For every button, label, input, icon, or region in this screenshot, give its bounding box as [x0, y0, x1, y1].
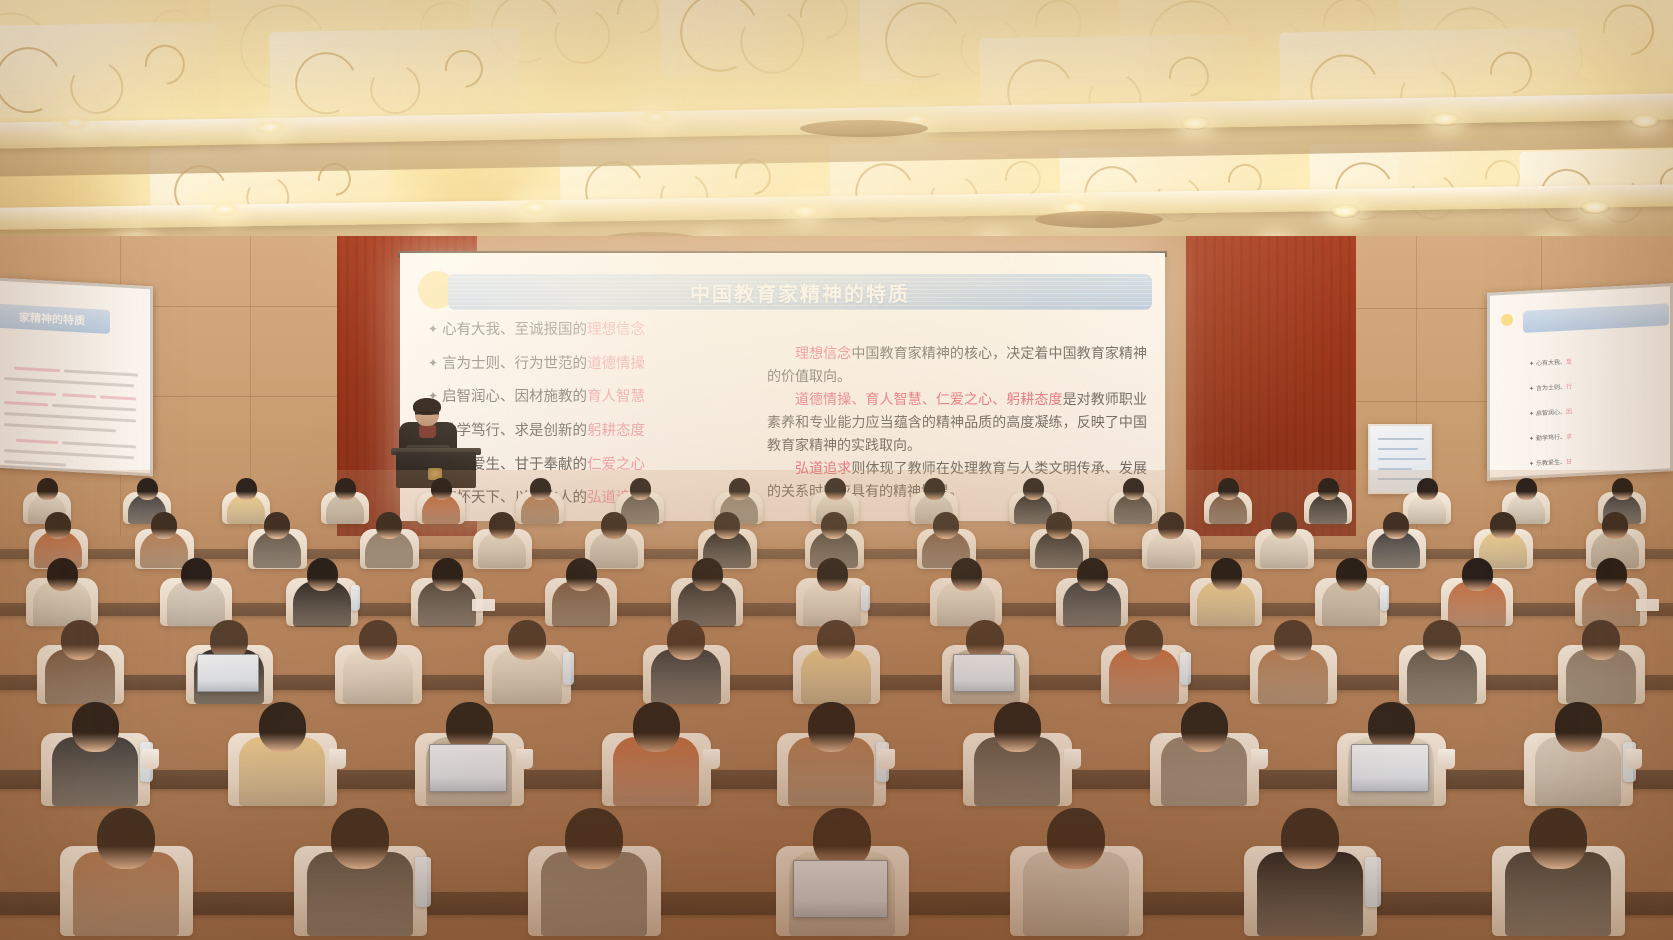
chandelier-swirl-ring [0, 38, 70, 122]
water-bottle [1380, 585, 1389, 612]
audience-person-head [1555, 702, 1602, 752]
slide-title: 中国教育家精神的特质 [690, 278, 910, 307]
audience-person-head [530, 478, 551, 500]
audience-person-head [151, 512, 177, 539]
slide-title-bar: 中国教育家精神的特质 [448, 274, 1152, 310]
chandelier-swirl-ring [548, 1, 617, 70]
chandelier-swirl-ring [1593, 0, 1665, 66]
audience-person-head [1077, 558, 1108, 591]
bullet-highlight-text: 躬耕态度 [587, 422, 645, 440]
audience-person-head [1582, 620, 1620, 660]
seated-audience [0, 470, 1673, 940]
recessed-downlight [210, 202, 240, 216]
recessed-downlight [1630, 114, 1660, 128]
audience-person-head [667, 620, 705, 660]
chandelier-swirl-ring [1481, 43, 1540, 102]
audience-person-head [47, 558, 78, 591]
water-bottle [563, 652, 573, 684]
audience-person-head [97, 808, 155, 869]
audience-person-head [1596, 558, 1627, 591]
chandelier-swirl-ring [287, 44, 366, 123]
water-bottle [1180, 652, 1190, 684]
audience-laptop [793, 860, 889, 918]
chandelier-swirl-ring [875, 0, 972, 88]
audience-person-head [72, 702, 119, 752]
audience-laptop [953, 654, 1016, 692]
recessed-downlight [1430, 112, 1460, 126]
paper-cup [878, 749, 895, 769]
paper-cup [1625, 749, 1642, 769]
audience-person-head [1123, 478, 1144, 500]
water-bottle [1365, 857, 1381, 906]
audience-person-head [633, 702, 680, 752]
audience-person-head [1046, 512, 1072, 539]
paper-cup [1438, 749, 1455, 769]
audience-person-head [1336, 558, 1367, 591]
left-side-monitor: 家精神的特质 [0, 278, 153, 477]
audience-person-head [376, 512, 402, 539]
audience-person-head [181, 558, 212, 591]
audience-person-head [1181, 702, 1228, 752]
slide-bullet-3: ✦启智润心、因材施教的育人智慧 [428, 388, 745, 406]
bullet-lead-text: 言为士则、行为世范的 [442, 355, 587, 373]
audience-person-head [1612, 478, 1633, 500]
audience-person-head [37, 478, 58, 500]
chandelier-swirl-ring [437, 42, 490, 95]
audience-person-head [825, 478, 846, 500]
audience-person-head [45, 512, 71, 539]
audience-person-head [1490, 512, 1516, 539]
swirl-chandelier [659, 0, 861, 78]
audience-person-head [924, 478, 945, 500]
audience-person-head [1211, 558, 1242, 591]
audience-person-head [307, 558, 338, 591]
ceiling-air-vent [800, 120, 928, 137]
right-side-monitor: ✦ 心有大我、至✦ 言为士则、行✦ 启智润心、因✦ 勤学笃行、求✦ 乐教爱生、甘 [1487, 283, 1673, 481]
chandelier-swirl-ring [137, 37, 193, 93]
handout-paper [1636, 599, 1659, 611]
audience-person-head [61, 620, 99, 660]
audience-person-head [489, 512, 515, 539]
audience-person-head [1417, 478, 1438, 500]
paper-cup [1064, 749, 1081, 769]
audience-person-head [566, 558, 597, 591]
audience-person-head [1158, 512, 1184, 539]
audience-person-head [432, 558, 463, 591]
slide-bullet-1: ✦心有大我、至诚报国的理想信念 [428, 321, 745, 339]
water-bottle [351, 585, 360, 612]
audience-person-head [259, 702, 306, 752]
paragraph-highlight-text: 道德情操、育人智慧、仁爱之心、躬耕态度 [795, 392, 1063, 408]
audience-laptop [197, 654, 260, 692]
audience-person-head [1602, 512, 1628, 539]
ceiling [0, 0, 1673, 248]
audience-person-head [565, 808, 623, 869]
bullet-lead-text: 勤学笃行、求是创新的 [442, 422, 587, 440]
paper-cup [142, 749, 159, 769]
recessed-downlight [790, 204, 820, 218]
recessed-downlight [1330, 204, 1360, 218]
audience-person-head [1047, 808, 1105, 869]
bullet-lead-text: 启智润心、因材施教的 [442, 388, 587, 406]
audience-person-head [359, 620, 397, 660]
recessed-downlight [255, 120, 285, 134]
audience-person-head [1218, 478, 1239, 500]
audience-person-head [714, 512, 740, 539]
ceiling-air-vent [1035, 211, 1163, 228]
paper-cup [329, 749, 346, 769]
audience-person-head [1125, 620, 1163, 660]
audience-person-head [1423, 620, 1461, 660]
slide-paragraph-1: 理想信念中国教育家精神的核心，决定着中国教育家精神的价值取向。 [767, 343, 1147, 388]
audience-person-head [1281, 808, 1339, 869]
audience-person-head [264, 512, 290, 539]
handout-paper [472, 599, 495, 611]
recessed-downlight [60, 116, 90, 130]
chandelier-swirl-ring [64, 55, 130, 121]
audience-person-head [808, 702, 855, 752]
audience-person-head [1529, 808, 1587, 869]
chandelier-swirl-ring [608, 0, 667, 42]
recessed-downlight [640, 110, 670, 124]
slide-bullet-2: ✦言为士则、行为世范的道德情操 [428, 355, 745, 373]
audience-person-head [630, 478, 651, 500]
bullet-highlight-text: 理想信念 [587, 321, 645, 339]
audience-person-head [137, 478, 158, 500]
audience-person-head [1274, 620, 1312, 660]
audience-person-head [431, 478, 452, 500]
audience-person-head [692, 558, 723, 591]
paper-cup [516, 749, 533, 769]
audience-person-head [951, 558, 982, 591]
audience-person-head [1318, 478, 1339, 500]
audience-person-head [817, 620, 855, 660]
presenter-glasses [418, 412, 436, 416]
conference-hall-photo: 家精神的特质 ✦ 心有大我、至✦ 言为士则、行✦ 启智润心、因✦ 勤学笃行、求✦… [0, 0, 1673, 940]
audience-person-head [821, 512, 847, 539]
audience-person-head [1516, 478, 1537, 500]
bullet-diamond-icon: ✦ [428, 321, 438, 338]
audience-person-head [601, 512, 627, 539]
audience-person-head [331, 808, 389, 869]
paper-cup [1251, 749, 1268, 769]
audience-person-head [508, 620, 546, 660]
audience-laptop [1351, 744, 1429, 791]
bullet-highlight-text: 育人智慧 [587, 388, 645, 406]
water-bottle [415, 857, 431, 906]
chandelier-swirl-ring [364, 58, 426, 120]
presenter-scarf [419, 424, 436, 438]
slide-bullet-4: ✦勤学笃行、求是创新的躬耕态度 [428, 422, 745, 440]
recessed-downlight [1580, 200, 1610, 214]
recessed-downlight [1180, 116, 1210, 130]
audience-laptop [429, 744, 507, 791]
water-bottle [861, 585, 870, 612]
audience-person-head [1383, 512, 1409, 539]
paper-cup [703, 749, 720, 769]
swirl-chandelier [0, 22, 221, 118]
bullet-highlight-text: 道德情操 [587, 355, 645, 373]
audience-person-head [729, 478, 750, 500]
bullet-lead-text: 心有大我、至诚报国的 [442, 321, 587, 339]
audience-person-head [1271, 512, 1297, 539]
audience-person-head [994, 702, 1041, 752]
audience-person-head [1462, 558, 1493, 591]
audience-person-head [236, 478, 257, 500]
audience-person-head [817, 558, 848, 591]
chandelier-swirl-ring [1161, 49, 1217, 105]
bullet-diamond-icon: ✦ [428, 355, 438, 372]
recessed-downlight [520, 200, 550, 214]
slide-paragraph-2: 道德情操、育人智慧、仁爱之心、躬耕态度是对教师职业素养和专业能力应当蕴含的精神品… [767, 389, 1147, 457]
audience-person-head [1023, 478, 1044, 500]
swirl-chandelier [269, 28, 520, 118]
audience-person-head [335, 478, 356, 500]
audience-person-head [933, 512, 959, 539]
paragraph-highlight-text: 理想信念 [795, 346, 851, 362]
